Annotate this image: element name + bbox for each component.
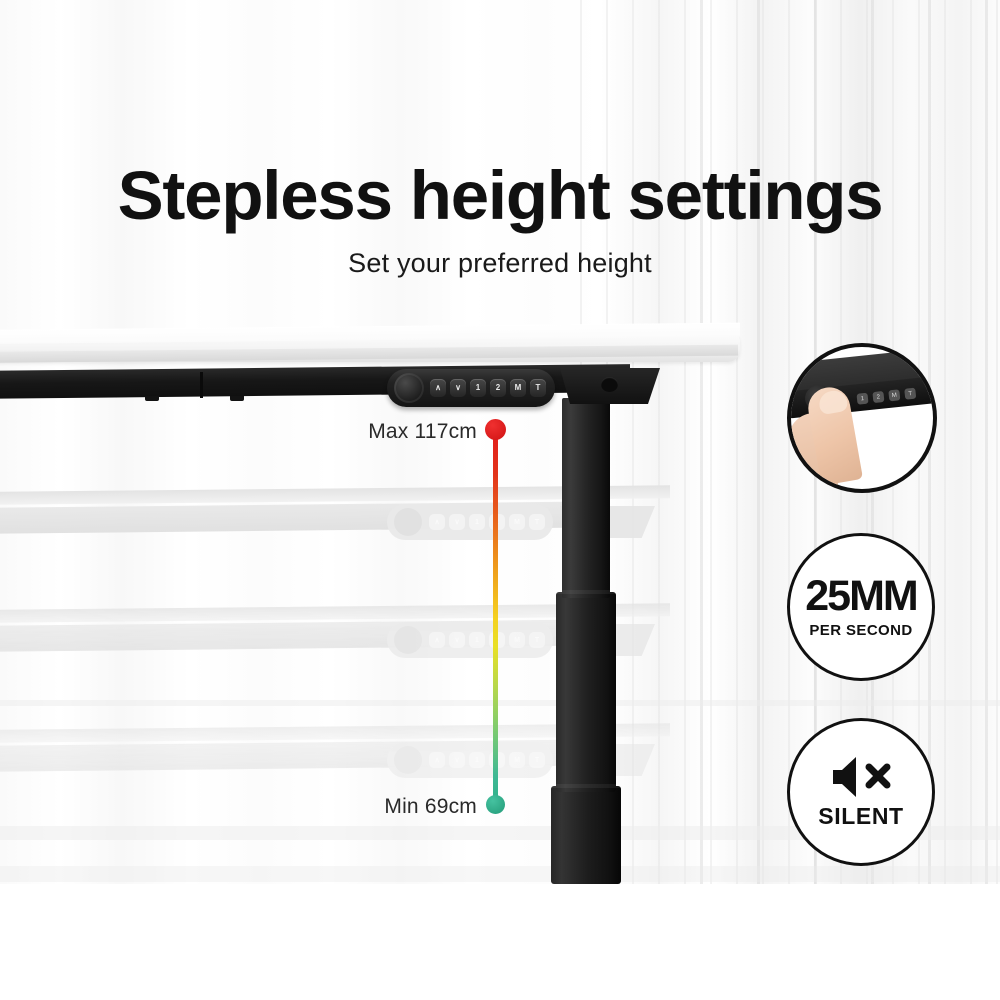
speed-caption: PER SECOND [809,622,912,639]
ghost-chevron-up-icon: ∧ [429,752,445,768]
max-height-dot [485,419,506,440]
silent-caption: SILENT [818,803,903,830]
ghost-button-row: ∧ ∨ 1 2 M T [429,513,547,531]
ghost-chevron-down-icon: ∨ [449,514,465,530]
frame-rail-seam [200,372,203,398]
speaker-mute-icon [829,755,893,799]
ghost-button-row: ∧ ∨ 1 2 M T [429,751,547,769]
ghost-chevron-down-icon: ∨ [449,632,465,648]
photo-timer-icon: T [904,388,916,400]
leg-segment-bottom [551,786,621,884]
product-photo-backdrop: ∧ ∨ 1 2 M T ∧ ∨ 1 2 M [0,0,1000,884]
preset-one-icon[interactable]: 1 [470,379,486,397]
photo-preset-one-icon: 1 [856,393,868,405]
ghost-preset-one-icon: 1 [469,632,485,648]
ghost-chevron-up-icon: ∧ [429,632,445,648]
ghost-timer-icon: T [529,514,545,530]
badge-speed: 25MM PER SECOND [787,533,935,681]
photo-memory-icon: M [888,389,900,401]
rail-fastener-right [230,396,244,401]
cable-port-icon [601,377,618,392]
badge-control-panel-photo: 1 2 M T [787,343,937,493]
product-feature-image: ∧ ∨ 1 2 M T ∧ ∨ 1 2 M [0,0,1000,1000]
speed-value: 25MM [805,575,916,618]
min-height-label: Min 69cm [355,795,477,819]
min-height-dot [486,795,505,814]
height-range-gradient-bar [493,428,498,806]
page-title: Stepless height settings [0,156,1000,235]
memory-icon[interactable]: M [510,379,526,397]
ghost-knob-icon [394,508,422,536]
ghost-timer-icon: T [529,632,545,648]
ghost-chevron-up-icon: ∧ [429,514,445,530]
display-knob-icon[interactable] [394,373,424,403]
ghost-memory-icon: M [509,514,525,530]
ghost-preset-one-icon: 1 [469,514,485,530]
control-button-row: ∧ ∨ 1 2 M T [430,378,550,398]
chevron-up-icon[interactable]: ∧ [430,379,446,397]
ghost-preset-one-icon: 1 [469,752,485,768]
ghost-memory-icon: M [509,632,525,648]
leg-segment-top [562,398,610,598]
page-subtitle: Set your preferred height [0,248,1000,279]
ghost-chevron-down-icon: ∨ [449,752,465,768]
chevron-down-icon[interactable]: ∨ [450,379,466,397]
ghost-memory-icon: M [509,752,525,768]
leg-joint-upper [556,590,616,594]
ghost-knob-icon [394,626,422,654]
rail-fastener-left [145,396,159,401]
ghost-timer-icon: T [529,752,545,768]
timer-icon[interactable]: T [530,379,546,397]
photo-preset-two-icon: 2 [872,391,884,403]
preset-two-icon[interactable]: 2 [490,379,506,397]
leg-joint-lower [551,784,621,788]
ghost-button-row: ∧ ∨ 1 2 M T [429,631,547,649]
leg-segment-middle [556,592,616,792]
badge-silent: SILENT [787,718,935,866]
ghost-knob-icon [394,746,422,774]
max-height-label: Max 117cm [355,420,477,444]
